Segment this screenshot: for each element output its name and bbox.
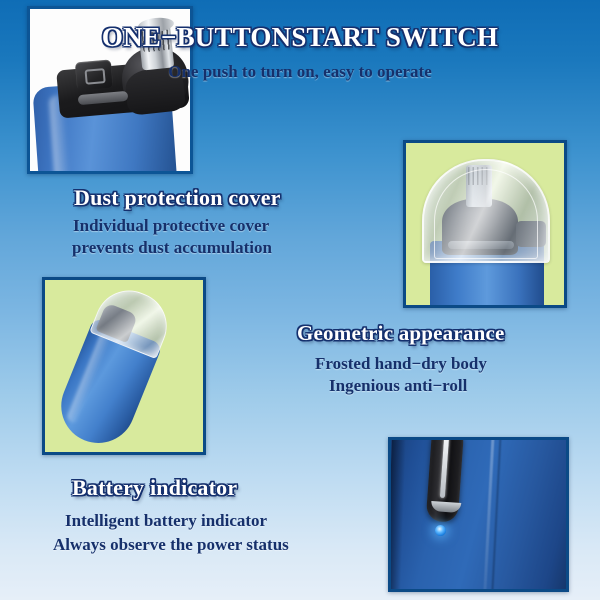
feature-heading-battery-indicator: Battery indicator xyxy=(72,475,237,501)
product-whole xyxy=(50,280,178,454)
feature-line1-geometric-appearance: Frosted hand−dry body xyxy=(315,354,487,374)
battery-indicator-led xyxy=(435,525,446,536)
infographic-canvas: ONE−BUTTONSTART SWITCH One push to turn … xyxy=(0,0,600,600)
feature-line1-battery-indicator: Intelligent battery indicator xyxy=(65,511,267,531)
feature-line2-battery-indicator: Always observe the power status xyxy=(53,535,289,555)
photo-scene xyxy=(45,280,203,452)
feature-line1-dust-protection-cover: Individual protective cover xyxy=(73,216,269,236)
feature-line2-geometric-appearance: Ingenious anti−roll xyxy=(329,376,467,396)
photo-full-product-tilted xyxy=(42,277,206,455)
feature-heading-dust-protection-cover: Dust protection cover xyxy=(74,185,281,211)
feature-line2-dust-protection-cover: prevents dust accumulation xyxy=(72,238,272,258)
photo-power-button-led xyxy=(388,437,569,592)
body-edge-shadow xyxy=(388,437,406,592)
photo-scene xyxy=(391,440,566,589)
banner-title: ONE−BUTTONSTART SWITCH xyxy=(0,22,600,53)
feature-heading-geometric-appearance: Geometric appearance xyxy=(297,321,505,346)
banner-subtitle: One push to turn on, easy to operate xyxy=(0,62,600,82)
photo-scene xyxy=(406,143,564,305)
photo-dust-cover-on-head xyxy=(403,140,567,308)
